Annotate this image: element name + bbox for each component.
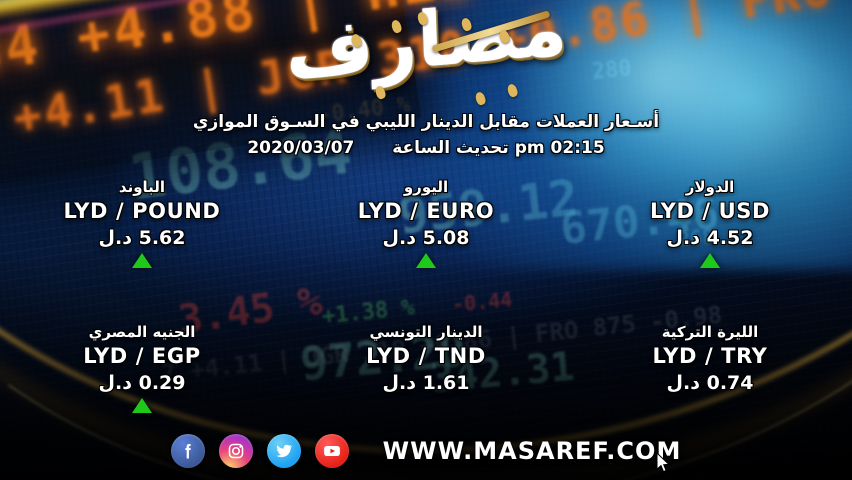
rate-currency-name: الباوند	[0, 178, 284, 196]
rates-grid: الدولار LYD / USD 4.52 د.ل اليورو LYD / …	[0, 178, 852, 416]
rates-row-top: الدولار LYD / USD 4.52 د.ل اليورو LYD / …	[0, 178, 852, 271]
rate-currency-name: الجنيه المصري	[0, 323, 284, 341]
youtube-icon[interactable]	[315, 434, 349, 468]
rate-currency-pair: LYD / POUND	[0, 199, 284, 223]
header-block: أسـعار العملات مقابل الدينار الليبي في ا…	[0, 112, 852, 158]
update-time: 02:15 pm	[515, 138, 605, 158]
rate-currency-pair: LYD / EURO	[284, 199, 568, 223]
rate-currency-name: الدينار التونسي	[284, 323, 568, 341]
rate-card-tnd[interactable]: الدينار التونسي LYD / TND 1.61 د.ل	[284, 323, 568, 416]
rate-card-usd[interactable]: الدولار LYD / USD 4.52 د.ل	[568, 178, 852, 271]
rate-trend	[284, 253, 568, 271]
rate-currency-name: الليرة التركية	[568, 323, 852, 341]
triangle-up-icon	[416, 253, 436, 268]
rate-currency-pair: LYD / USD	[568, 199, 852, 223]
website-url[interactable]: WWW.MASAREF.COM	[383, 437, 682, 465]
rate-card-euro[interactable]: اليورو LYD / EURO 5.08 د.ل	[284, 178, 568, 271]
triangle-up-icon	[700, 253, 720, 268]
rates-row-bottom: الليرة التركية LYD / TRY 0.74 د.ل الدينا…	[0, 323, 852, 416]
triangle-up-icon	[132, 253, 152, 268]
rate-card-egp[interactable]: الجنيه المصري LYD / EGP 0.29 د.ل	[0, 323, 284, 416]
rate-currency-name: الدولار	[568, 178, 852, 196]
rate-value: 1.61 د.ل	[284, 372, 568, 394]
rate-trend	[0, 253, 284, 271]
twitter-icon[interactable]	[267, 434, 301, 468]
rate-currency-pair: LYD / EGP	[0, 344, 284, 368]
rate-currency-name: اليورو	[284, 178, 568, 196]
footer-bar: WWW.MASAREF.COM	[0, 434, 852, 468]
rate-trend	[0, 398, 284, 416]
triangle-up-icon	[132, 398, 152, 413]
rate-value: 5.08 د.ل	[284, 227, 568, 249]
rate-card-pound[interactable]: الباوند LYD / POUND 5.62 د.ل	[0, 178, 284, 271]
instagram-icon[interactable]	[219, 434, 253, 468]
rate-currency-pair: LYD / TND	[284, 344, 568, 368]
rate-trend	[568, 398, 852, 416]
rate-value: 5.62 د.ل	[0, 227, 284, 249]
rate-value: 0.29 د.ل	[0, 372, 284, 394]
page-title: أسـعار العملات مقابل الدينار الليبي في ا…	[0, 112, 852, 132]
update-line: 02:15 pm تحديث الساعة 2020/03/07	[0, 138, 852, 158]
rate-currency-pair: LYD / TRY	[568, 344, 852, 368]
update-label: تحديث الساعة	[392, 138, 509, 158]
rate-trend	[284, 398, 568, 416]
rate-trend	[568, 253, 852, 271]
rate-value: 0.74 د.ل	[568, 372, 852, 394]
update-date: 2020/03/07	[247, 138, 354, 158]
rate-value: 4.52 د.ل	[568, 227, 852, 249]
facebook-icon[interactable]	[171, 434, 205, 468]
rate-board-screen: 108.64 959.12 670.46 972.20 342.31 3.45 …	[0, 0, 852, 480]
rate-card-try[interactable]: الليرة التركية LYD / TRY 0.74 د.ل	[568, 323, 852, 416]
